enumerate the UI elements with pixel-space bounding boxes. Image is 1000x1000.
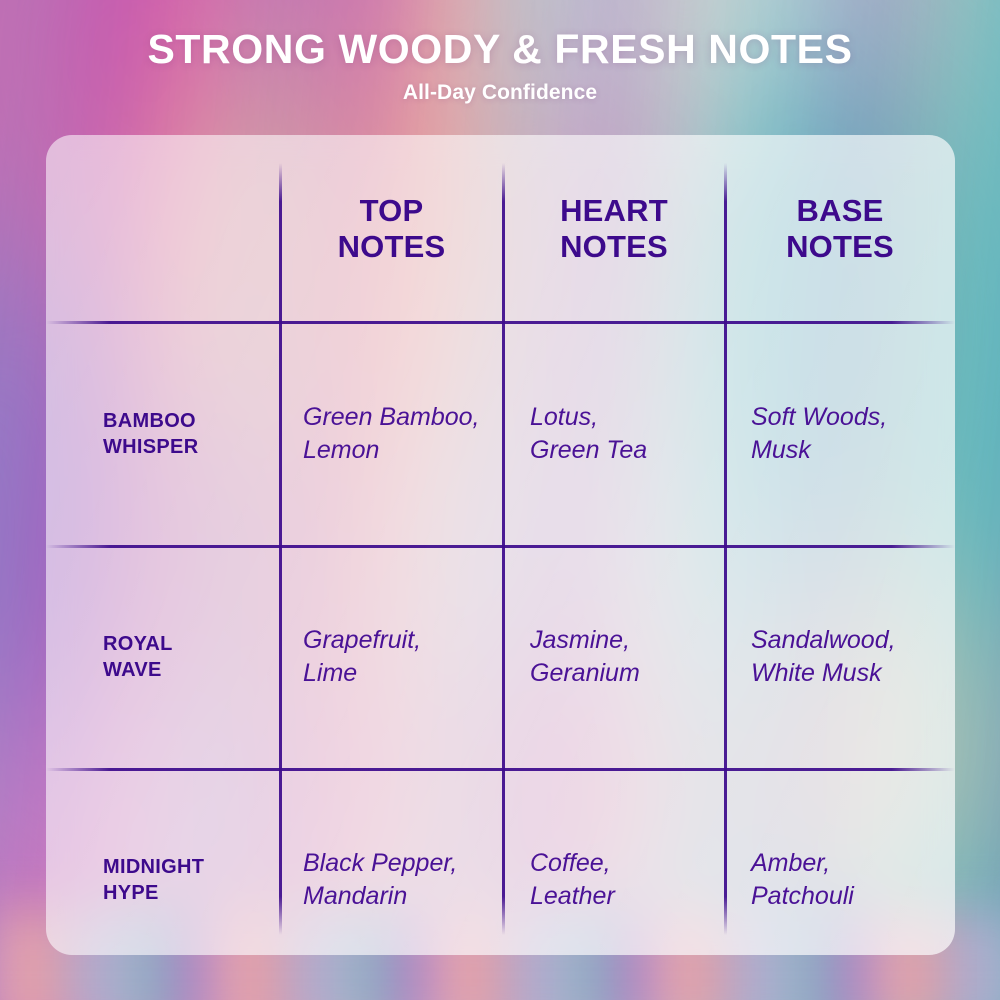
- row-label-bamboo-whisper: BAMBOO WHISPER: [46, 323, 280, 545]
- cell-royal-wave-heart-notes: Jasmine, Geranium: [503, 546, 725, 768]
- cell-midnight-hype-heart-notes: Coffee, Leather: [503, 769, 725, 955]
- cell-bamboo-whisper-top-notes: Green Bamboo, Lemon: [280, 323, 503, 545]
- column-header-heart-notes-line2: NOTES: [560, 229, 668, 264]
- row-label-line2: WAVE: [103, 657, 280, 683]
- note-line2: White Musk: [751, 657, 955, 690]
- note-line2: Green Tea: [530, 434, 725, 467]
- table-row: BAMBOO WHISPER Green Bamboo, Lemon Lotus…: [46, 323, 955, 545]
- fragrance-notes-card: TOP NOTES HEART NOTES BASE NOTES: [46, 135, 955, 955]
- note-line2: Geranium: [530, 657, 725, 690]
- cell-midnight-hype-base-notes: Amber, Patchouli: [725, 769, 955, 955]
- table-row: MIDNIGHT HYPE Black Pepper, Mandarin Cof…: [46, 769, 955, 955]
- note-line2: Patchouli: [751, 880, 955, 913]
- table-row: ROYAL WAVE Grapefruit, Lime Jasmine, Ger…: [46, 546, 955, 768]
- note-line1: Coffee,: [530, 849, 611, 877]
- note-line1: Soft Woods,: [751, 403, 887, 431]
- table-header-row: TOP NOTES HEART NOTES BASE NOTES: [46, 135, 955, 323]
- column-header-heart-notes-line1: HEART: [560, 193, 668, 228]
- cell-royal-wave-top-notes: Grapefruit, Lime: [280, 546, 503, 768]
- poster-canvas: STRONG WOODY & FRESH NOTES All-Day Confi…: [0, 0, 1000, 1000]
- cell-royal-wave-base-notes: Sandalwood, White Musk: [725, 546, 955, 768]
- note-line2: Mandarin: [303, 880, 503, 913]
- column-header-top-notes-line2: NOTES: [338, 229, 446, 264]
- page-subtitle: All-Day Confidence: [0, 81, 1000, 105]
- column-header-top-notes: TOP NOTES: [280, 193, 503, 266]
- row-label-line1: BAMBOO: [103, 410, 196, 432]
- row-label-line2: HYPE: [103, 880, 280, 906]
- row-label-royal-wave: ROYAL WAVE: [46, 546, 280, 768]
- column-header-base-notes: BASE NOTES: [725, 193, 955, 266]
- column-header-base-notes-line2: NOTES: [786, 229, 894, 264]
- cell-bamboo-whisper-base-notes: Soft Woods, Musk: [725, 323, 955, 545]
- column-header-top-notes-line1: TOP: [360, 193, 424, 228]
- row-label-line2: WHISPER: [103, 434, 280, 460]
- note-line2: Lime: [303, 657, 503, 690]
- note-line1: Black Pepper,: [303, 849, 457, 877]
- note-line1: Jasmine,: [530, 626, 630, 654]
- note-line1: Sandalwood,: [751, 626, 896, 654]
- cell-bamboo-whisper-heart-notes: Lotus, Green Tea: [503, 323, 725, 545]
- page-title: STRONG WOODY & FRESH NOTES: [0, 28, 1000, 71]
- row-label-midnight-hype: MIDNIGHT HYPE: [46, 769, 280, 955]
- note-line2: Lemon: [303, 434, 503, 467]
- note-line1: Amber,: [751, 849, 830, 877]
- note-line2: Musk: [751, 434, 955, 467]
- row-label-line1: MIDNIGHT: [103, 856, 204, 878]
- poster-header: STRONG WOODY & FRESH NOTES All-Day Confi…: [0, 28, 1000, 105]
- note-line2: Leather: [530, 880, 725, 913]
- cell-midnight-hype-top-notes: Black Pepper, Mandarin: [280, 769, 503, 955]
- note-line1: Green Bamboo,: [303, 403, 480, 431]
- column-header-heart-notes: HEART NOTES: [503, 193, 725, 266]
- notes-table: TOP NOTES HEART NOTES BASE NOTES: [46, 135, 955, 955]
- note-line1: Grapefruit,: [303, 626, 421, 654]
- row-label-line1: ROYAL: [103, 633, 173, 655]
- note-line1: Lotus,: [530, 403, 598, 431]
- column-header-base-notes-line1: BASE: [797, 193, 884, 228]
